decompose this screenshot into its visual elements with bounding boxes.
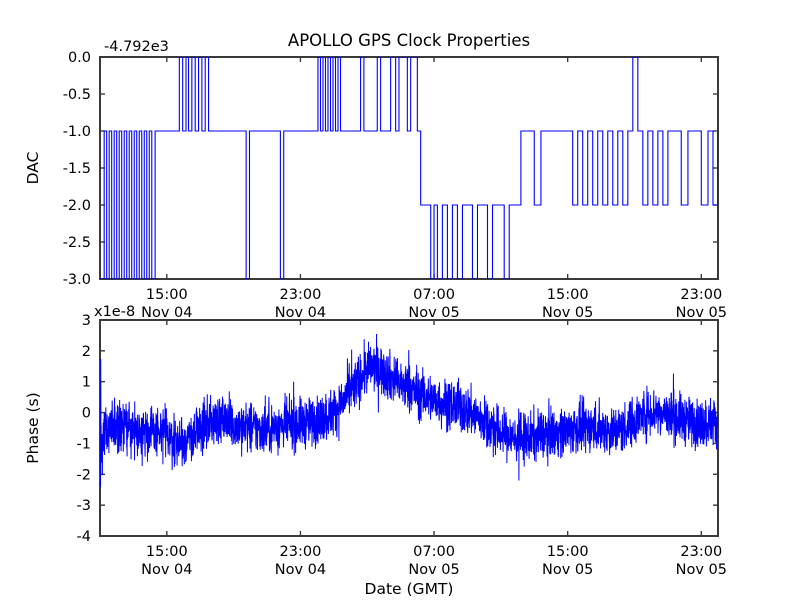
dac-panel-xticklabel-time: 07:00 (413, 287, 455, 303)
dac-panel-xticklabel-time: 15:00 (547, 287, 589, 303)
phase-panel-y-scale-label: x1e-8 (94, 304, 135, 320)
phase-panel-line (100, 334, 718, 488)
dac-panel-yticklabel: -0.5 (63, 87, 91, 103)
dac-panel-yticklabel: -2.5 (63, 235, 91, 251)
dac-panel-line (100, 57, 718, 279)
dac-panel-xticklabel-date: Nov 05 (676, 305, 727, 321)
phase-panel-yticklabel: 0 (82, 406, 91, 422)
dac-panel-xticklabel-date: Nov 05 (542, 305, 593, 321)
dac-panel-xticklabel-date: Nov 05 (408, 305, 459, 321)
dac-panel-yticklabel: -1.0 (63, 124, 91, 140)
dac-panel-axes: 0.0-0.5-1.0-1.5-2.0-2.5-3.015:00Nov 0423… (24, 39, 727, 321)
phase-panel-xticklabel-time: 23:00 (680, 544, 722, 560)
phase-panel-xticklabel-time: 23:00 (280, 544, 322, 560)
phase-panel-ylabel: Phase (s) (24, 392, 42, 463)
phase-panel-yticklabel: -3 (77, 498, 91, 514)
phase-panel-xticklabel-time: 07:00 (413, 544, 455, 560)
dac-panel-xticklabel-time: 23:00 (280, 287, 322, 303)
dac-panel-y-offset-label: -4.792e3 (104, 39, 169, 55)
phase-panel-yticklabel: 1 (82, 375, 91, 391)
figure-canvas: 0.0-0.5-1.0-1.5-2.0-2.5-3.015:00Nov 0423… (0, 0, 800, 600)
dac-panel-xticklabel-time: 15:00 (146, 287, 188, 303)
dac-panel-yticklabel: -1.5 (63, 161, 91, 177)
dac-panel-ylabel: DAC (24, 152, 42, 185)
phase-panel-xticklabel-date: Nov 05 (408, 562, 459, 578)
phase-panel-yticklabel: -4 (77, 529, 91, 545)
phase-panel-yticklabel: -1 (77, 436, 91, 452)
phase-panel-xticklabel-time: 15:00 (146, 544, 188, 560)
matplotlib-figure: 0.0-0.5-1.0-1.5-2.0-2.5-3.015:00Nov 0423… (0, 0, 800, 600)
dac-panel-xticklabel-time: 23:00 (680, 287, 722, 303)
dac-panel-yticklabel: -3.0 (63, 272, 91, 288)
phase-panel-yticklabel: 2 (82, 344, 91, 360)
dac-panel-xticklabel-date: Nov 04 (275, 305, 326, 321)
phase-panel-xticklabel-time: 15:00 (547, 544, 589, 560)
phase-panel-xticklabel-date: Nov 05 (542, 562, 593, 578)
phase-panel-xticklabel-date: Nov 04 (275, 562, 326, 578)
dac-panel-xticklabel-date: Nov 04 (141, 305, 192, 321)
dac-panel-yticklabel: 0.0 (68, 50, 91, 66)
phase-panel-xticklabel-date: Nov 04 (141, 562, 192, 578)
phase-panel-axes: 3210-1-2-3-415:00Nov 0423:00Nov 0407:00N… (24, 304, 727, 598)
phase-panel-xlabel: Date (GMT) (365, 580, 454, 598)
dac-panel-yticklabel: -2.0 (63, 198, 91, 214)
figure-title: APOLLO GPS Clock Properties (288, 31, 530, 50)
phase-panel-yticklabel: -2 (77, 467, 91, 483)
phase-panel-xticklabel-date: Nov 05 (676, 562, 727, 578)
phase-panel-yticklabel: 3 (82, 313, 91, 329)
dac-panel-frame (100, 57, 718, 279)
